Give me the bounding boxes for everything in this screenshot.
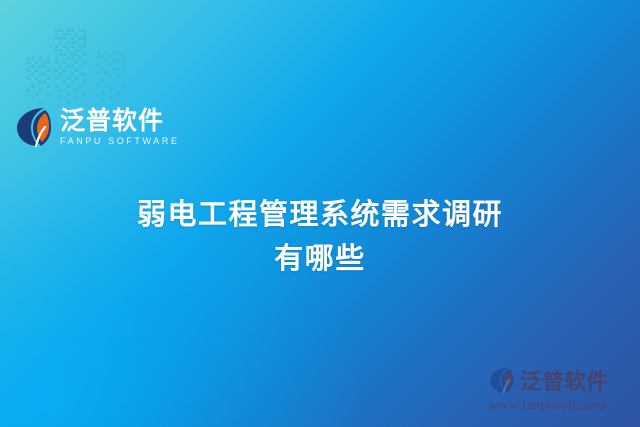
brand-name-en: FANPU SOFTWARE [60,137,180,146]
headline-line-1: 弱电工程管理系统需求调研 [0,192,640,236]
fanpu-logo-icon [14,106,54,148]
watermark-brand-row: 泛普软件 [488,363,632,397]
watermark-url: www.fanpusoft.com [488,398,632,414]
brand-name-cn: 泛普软件 [60,108,180,133]
headline: 弱电工程管理系统需求调研 有哪些 [0,192,640,280]
watermark: 泛普软件 www.fanpusoft.com [488,363,632,421]
brand-wordmark: 泛普软件 FANPU SOFTWARE [60,108,180,146]
headline-line-2: 有哪些 [0,236,640,280]
pixel-skyline-decoration [26,26,138,110]
watermark-brand-name: 泛普软件 [520,364,608,396]
brand-logo: 泛普软件 FANPU SOFTWARE [14,106,180,148]
fanpu-logo-icon [488,366,516,394]
poster-canvas: 泛普软件 FANPU SOFTWARE 弱电工程管理系统需求调研 有哪些 泛普软… [0,0,640,427]
